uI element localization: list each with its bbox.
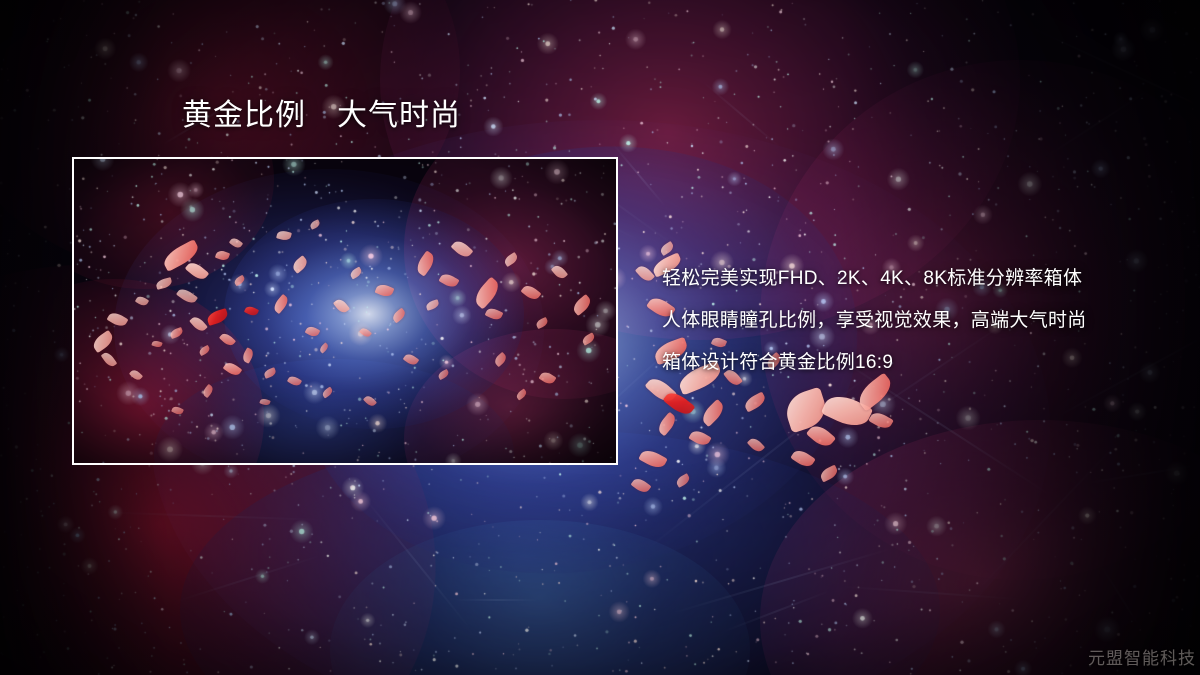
body-line-3: 箱体设计符合黄金比例16:9 bbox=[662, 342, 1182, 384]
inner-vignette bbox=[74, 159, 616, 463]
slide-title: 黄金比例 大气时尚 bbox=[182, 101, 461, 131]
body-line-1: 轻松完美实现FHD、2K、4K、8K标准分辨率箱体 bbox=[662, 258, 1182, 300]
framed-galaxy-photo bbox=[72, 157, 618, 465]
slide-body-text: 轻松完美实现FHD、2K、4K、8K标准分辨率箱体 人体眼睛瞳孔比例，享受视觉效… bbox=[662, 258, 1182, 384]
company-watermark: 元盟智能科技 bbox=[1088, 644, 1196, 669]
presentation-slide: 黄金比例 大气时尚 轻松完美实现FHD、2K、4K、8K标准分辨率箱体 人体眼睛… bbox=[0, 0, 1200, 675]
body-line-2: 人体眼睛瞳孔比例，享受视觉效果，高端大气时尚 bbox=[662, 300, 1182, 342]
framed-photo-content bbox=[74, 159, 616, 463]
